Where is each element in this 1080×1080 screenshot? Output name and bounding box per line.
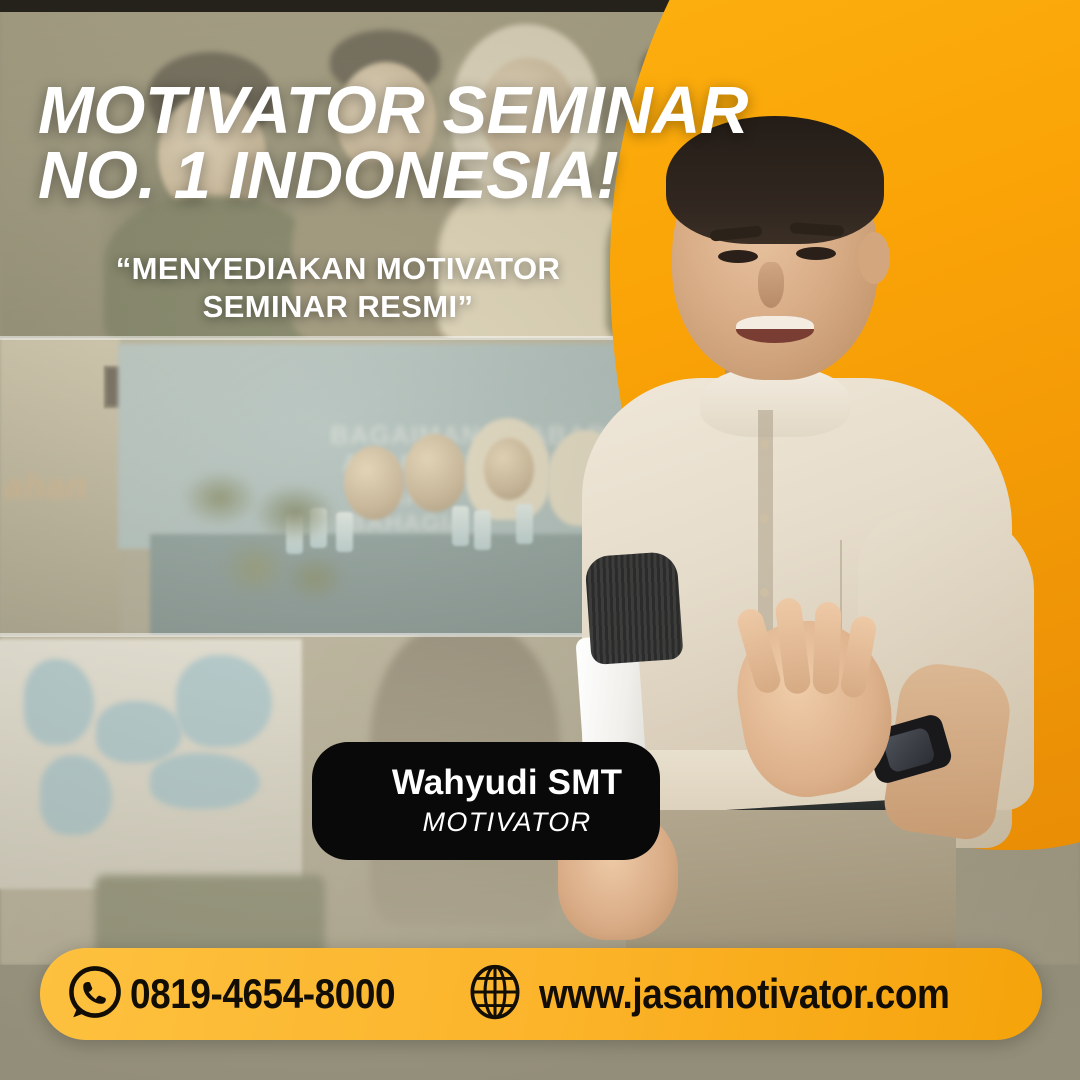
- whatsapp-contact[interactable]: 0819-4654-8000: [66, 963, 431, 1026]
- name-badge: Wahyudi SMT MOTIVATOR: [312, 742, 660, 860]
- headline: MOTIVATOR SEMINAR NO. 1 INDONESIA!: [38, 78, 858, 208]
- speaker-role: MOTIVATOR: [422, 806, 591, 838]
- globe-icon: [467, 963, 523, 1026]
- subheadline-line-1: “MENYEDIAKAN MOTIVATOR: [38, 250, 638, 288]
- whatsapp-icon: [66, 963, 124, 1026]
- contact-bar: 0819-4654-8000 www.jasamotivator.com: [40, 948, 1042, 1040]
- headline-line-2: NO. 1 INDONESIA!: [38, 143, 858, 208]
- promotional-poster: BAGAIMANA KABARNYA ? ALHAMDULILLAH SEHAT…: [0, 0, 1080, 1080]
- headline-line-1: MOTIVATOR SEMINAR: [38, 78, 858, 143]
- wall-text: ahan: [4, 468, 87, 507]
- website-contact[interactable]: www.jasamotivator.com: [467, 963, 1005, 1026]
- website-url: www.jasamotivator.com: [539, 970, 949, 1018]
- subheadline: “MENYEDIAKAN MOTIVATOR SEMINAR RESMI”: [38, 250, 638, 326]
- subheadline-line-2: SEMINAR RESMI”: [38, 288, 638, 326]
- speaker-name: Wahyudi SMT: [392, 764, 622, 803]
- phone-number: 0819-4654-8000: [130, 970, 395, 1018]
